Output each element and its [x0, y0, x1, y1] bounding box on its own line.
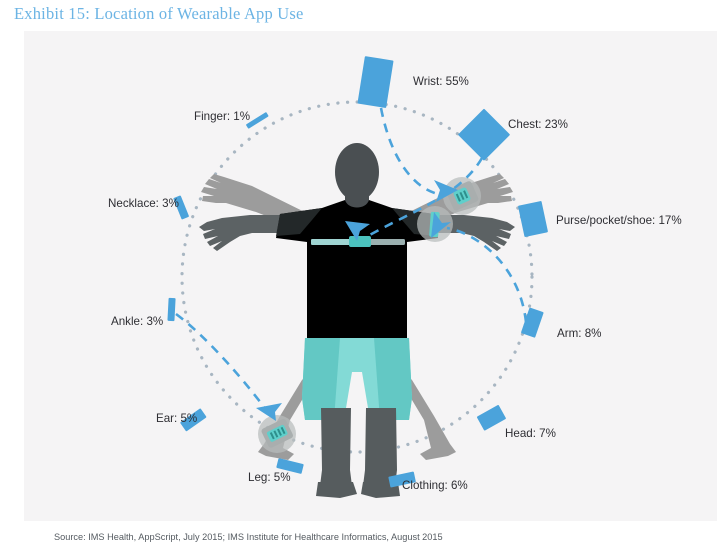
tick-head[interactable]: [477, 405, 507, 431]
connector-wrist-to-device: [381, 108, 438, 194]
tick-ankle[interactable]: [167, 298, 175, 321]
tick-label-head: Head: 7%: [505, 427, 556, 440]
tick-label-necklace: Necklace: 3%: [108, 197, 179, 210]
wearable-location-diagram: [0, 0, 717, 529]
figure-shorts-shade-left: [302, 338, 340, 420]
source-note: Source: IMS Health, AppScript, July 2015…: [54, 532, 443, 542]
tick-label-clothing: Clothing: 6%: [402, 479, 468, 492]
tick-label-ankle: Ankle: 3%: [111, 315, 163, 328]
tick-purse[interactable]: [518, 201, 548, 237]
tick-arm[interactable]: [521, 307, 544, 337]
tick-label-leg: Leg: 5%: [248, 471, 291, 484]
tick-label-wrist: Wrist: 55%: [413, 75, 469, 88]
chest-strap-device-module: [349, 236, 371, 247]
tick-wrist[interactable]: [357, 56, 393, 108]
figure-straight-legs: [316, 408, 400, 498]
tick-label-purse: Purse/pocket/shoe: 17%: [556, 214, 682, 227]
tick-label-chest: Chest: 23%: [508, 118, 568, 131]
tick-label-finger: Finger: 1%: [194, 110, 250, 123]
tick-label-arm: Arm: 8%: [557, 327, 601, 340]
figure-shorts-shade-right: [374, 338, 412, 420]
tick-chest[interactable]: [458, 109, 510, 161]
tick-label-ear: Ear: 5%: [156, 412, 197, 425]
